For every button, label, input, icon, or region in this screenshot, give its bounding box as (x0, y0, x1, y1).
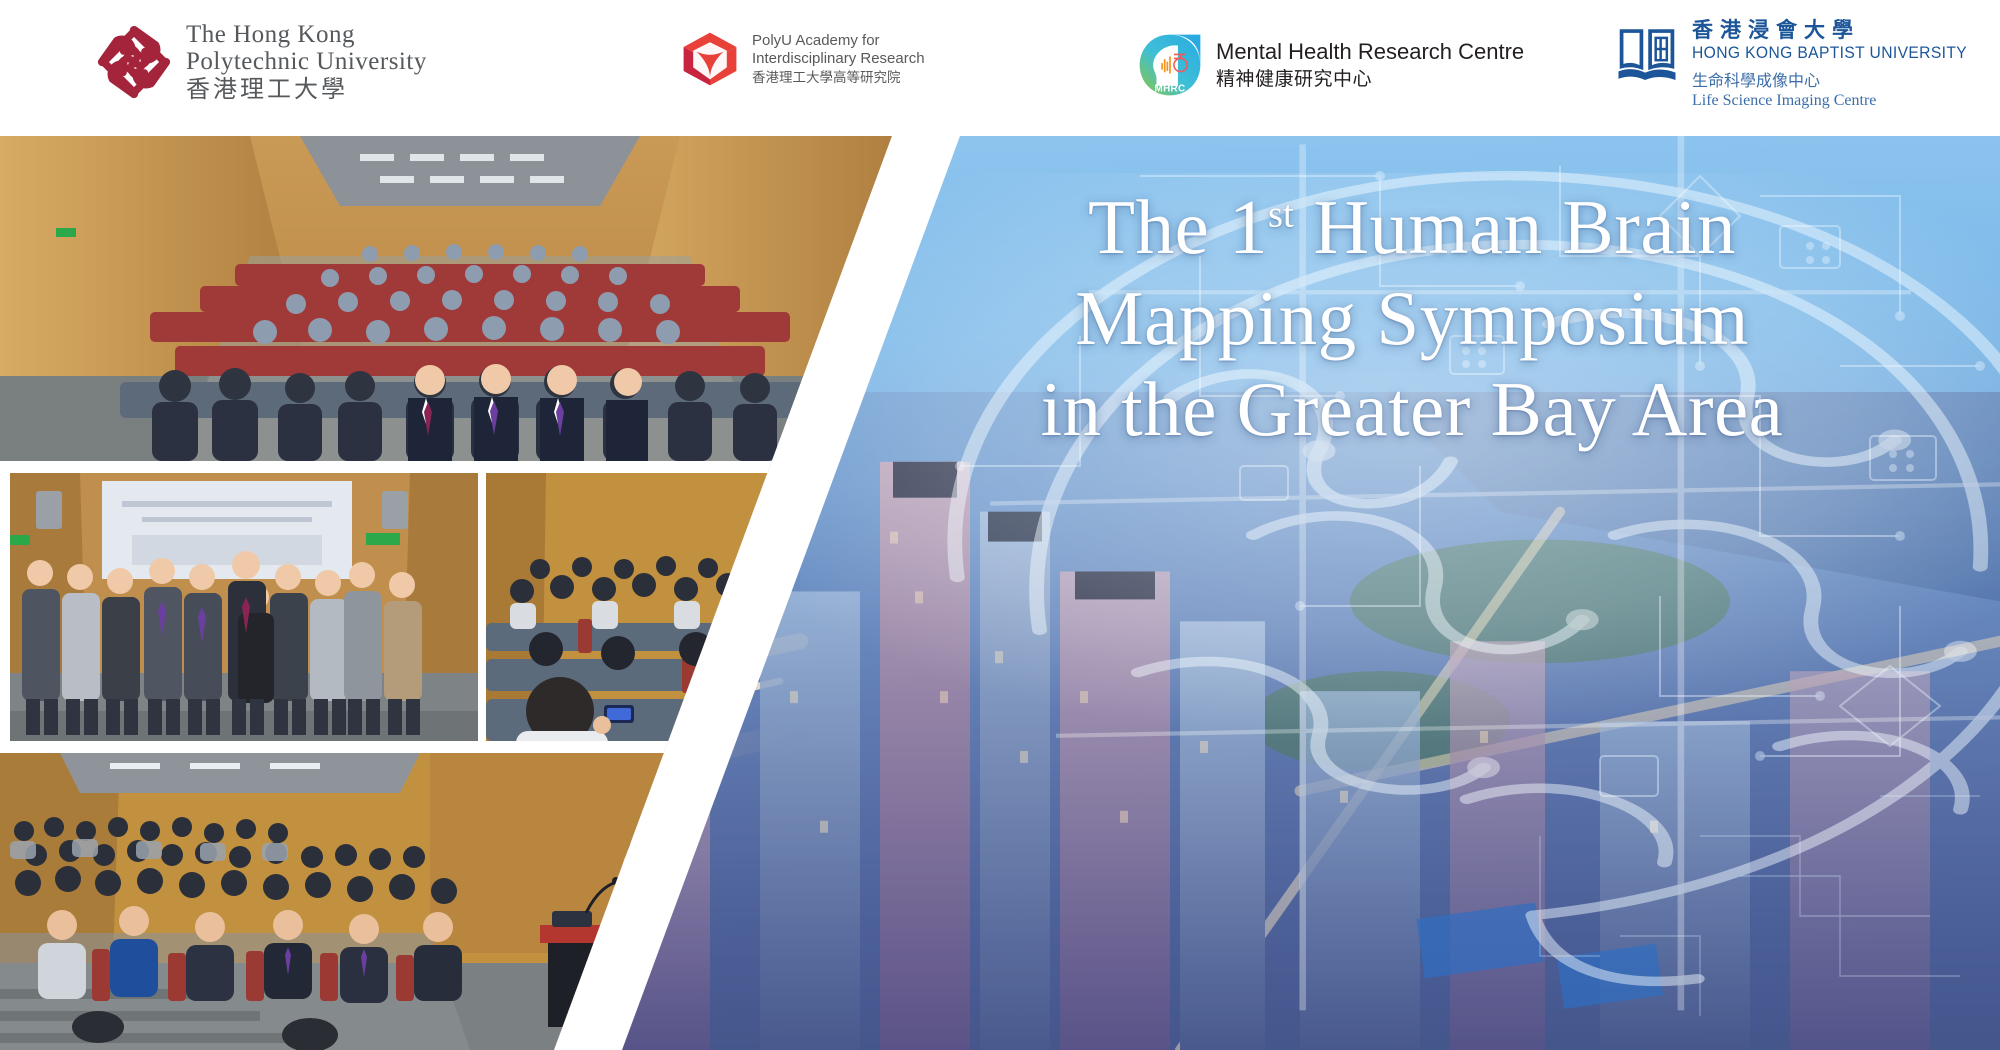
logo-hong-kong-polytechnic-university: The Hong Kong Polytechnic University 香港理… (96, 22, 427, 101)
pair-name-line1: PolyU Academy for (752, 32, 925, 50)
polyu-knot-icon (96, 24, 172, 100)
hkbu-name-english: HONG KONG BAPTIST UNIVERSITY (1692, 43, 1967, 63)
hkbu-name-chinese: 香港浸會大學 (1692, 18, 1991, 43)
title-line-1: The 1st Human Brain (882, 182, 1942, 273)
logo-hong-kong-baptist-university: 香港浸會大學 HONG KONG BAPTIST UNIVERSITY 生命科學… (1616, 18, 1991, 111)
photo-group-portrait-speakers (10, 473, 478, 741)
svg-text:MHRC: MHRC (1155, 83, 1186, 94)
polyu-name-line2: Polytechnic University (186, 49, 427, 74)
logo-header-bar: The Hong Kong Polytechnic University 香港理… (0, 0, 2000, 136)
title-ordinal-suffix: st (1268, 193, 1294, 235)
pair-cube-icon (680, 30, 740, 88)
hkbu-centre-chinese: 生命科學成像中心 (1692, 72, 1991, 91)
hero-title: The 1st Human Brain Mapping Symposium in… (882, 182, 1942, 455)
title-line-1-pre: The 1 (1088, 184, 1268, 270)
mhrc-name-chinese: 精神健康研究中心 (1216, 68, 1524, 91)
photo-lecture-hall-full-audience-thumbs-up (0, 136, 925, 461)
polyu-name-line1: The Hong Kong (186, 22, 427, 47)
poster-body: The 1st Human Brain Mapping Symposium in… (0, 136, 2000, 1050)
logo-mental-health-research-centre: MHRC Mental Health Research Centre 精神健康研… (1137, 32, 1524, 98)
hkbu-open-book-icon (1616, 24, 1678, 84)
polyu-name-chinese: 香港理工大學 (186, 77, 427, 101)
mhrc-brain-head-icon: MHRC (1137, 32, 1203, 98)
pair-name-line2: Interdisciplinary Research (752, 50, 925, 68)
title-line-2: Mapping Symposium (882, 273, 1942, 364)
logo-polyu-academy-interdisciplinary-research: PolyU Academy for Interdisciplinary Rese… (680, 30, 925, 88)
title-line-3: in the Greater Bay Area (882, 364, 1942, 455)
hkbu-centre-english: Life Science Imaging Centre (1692, 92, 1991, 111)
title-line-1-post: Human Brain (1294, 184, 1736, 270)
symposium-poster-banner: The Hong Kong Polytechnic University 香港理… (0, 0, 2000, 1050)
pair-name-chinese: 香港理工大學高等研究院 (752, 70, 925, 86)
mhrc-name-english: Mental Health Research Centre (1216, 39, 1524, 65)
